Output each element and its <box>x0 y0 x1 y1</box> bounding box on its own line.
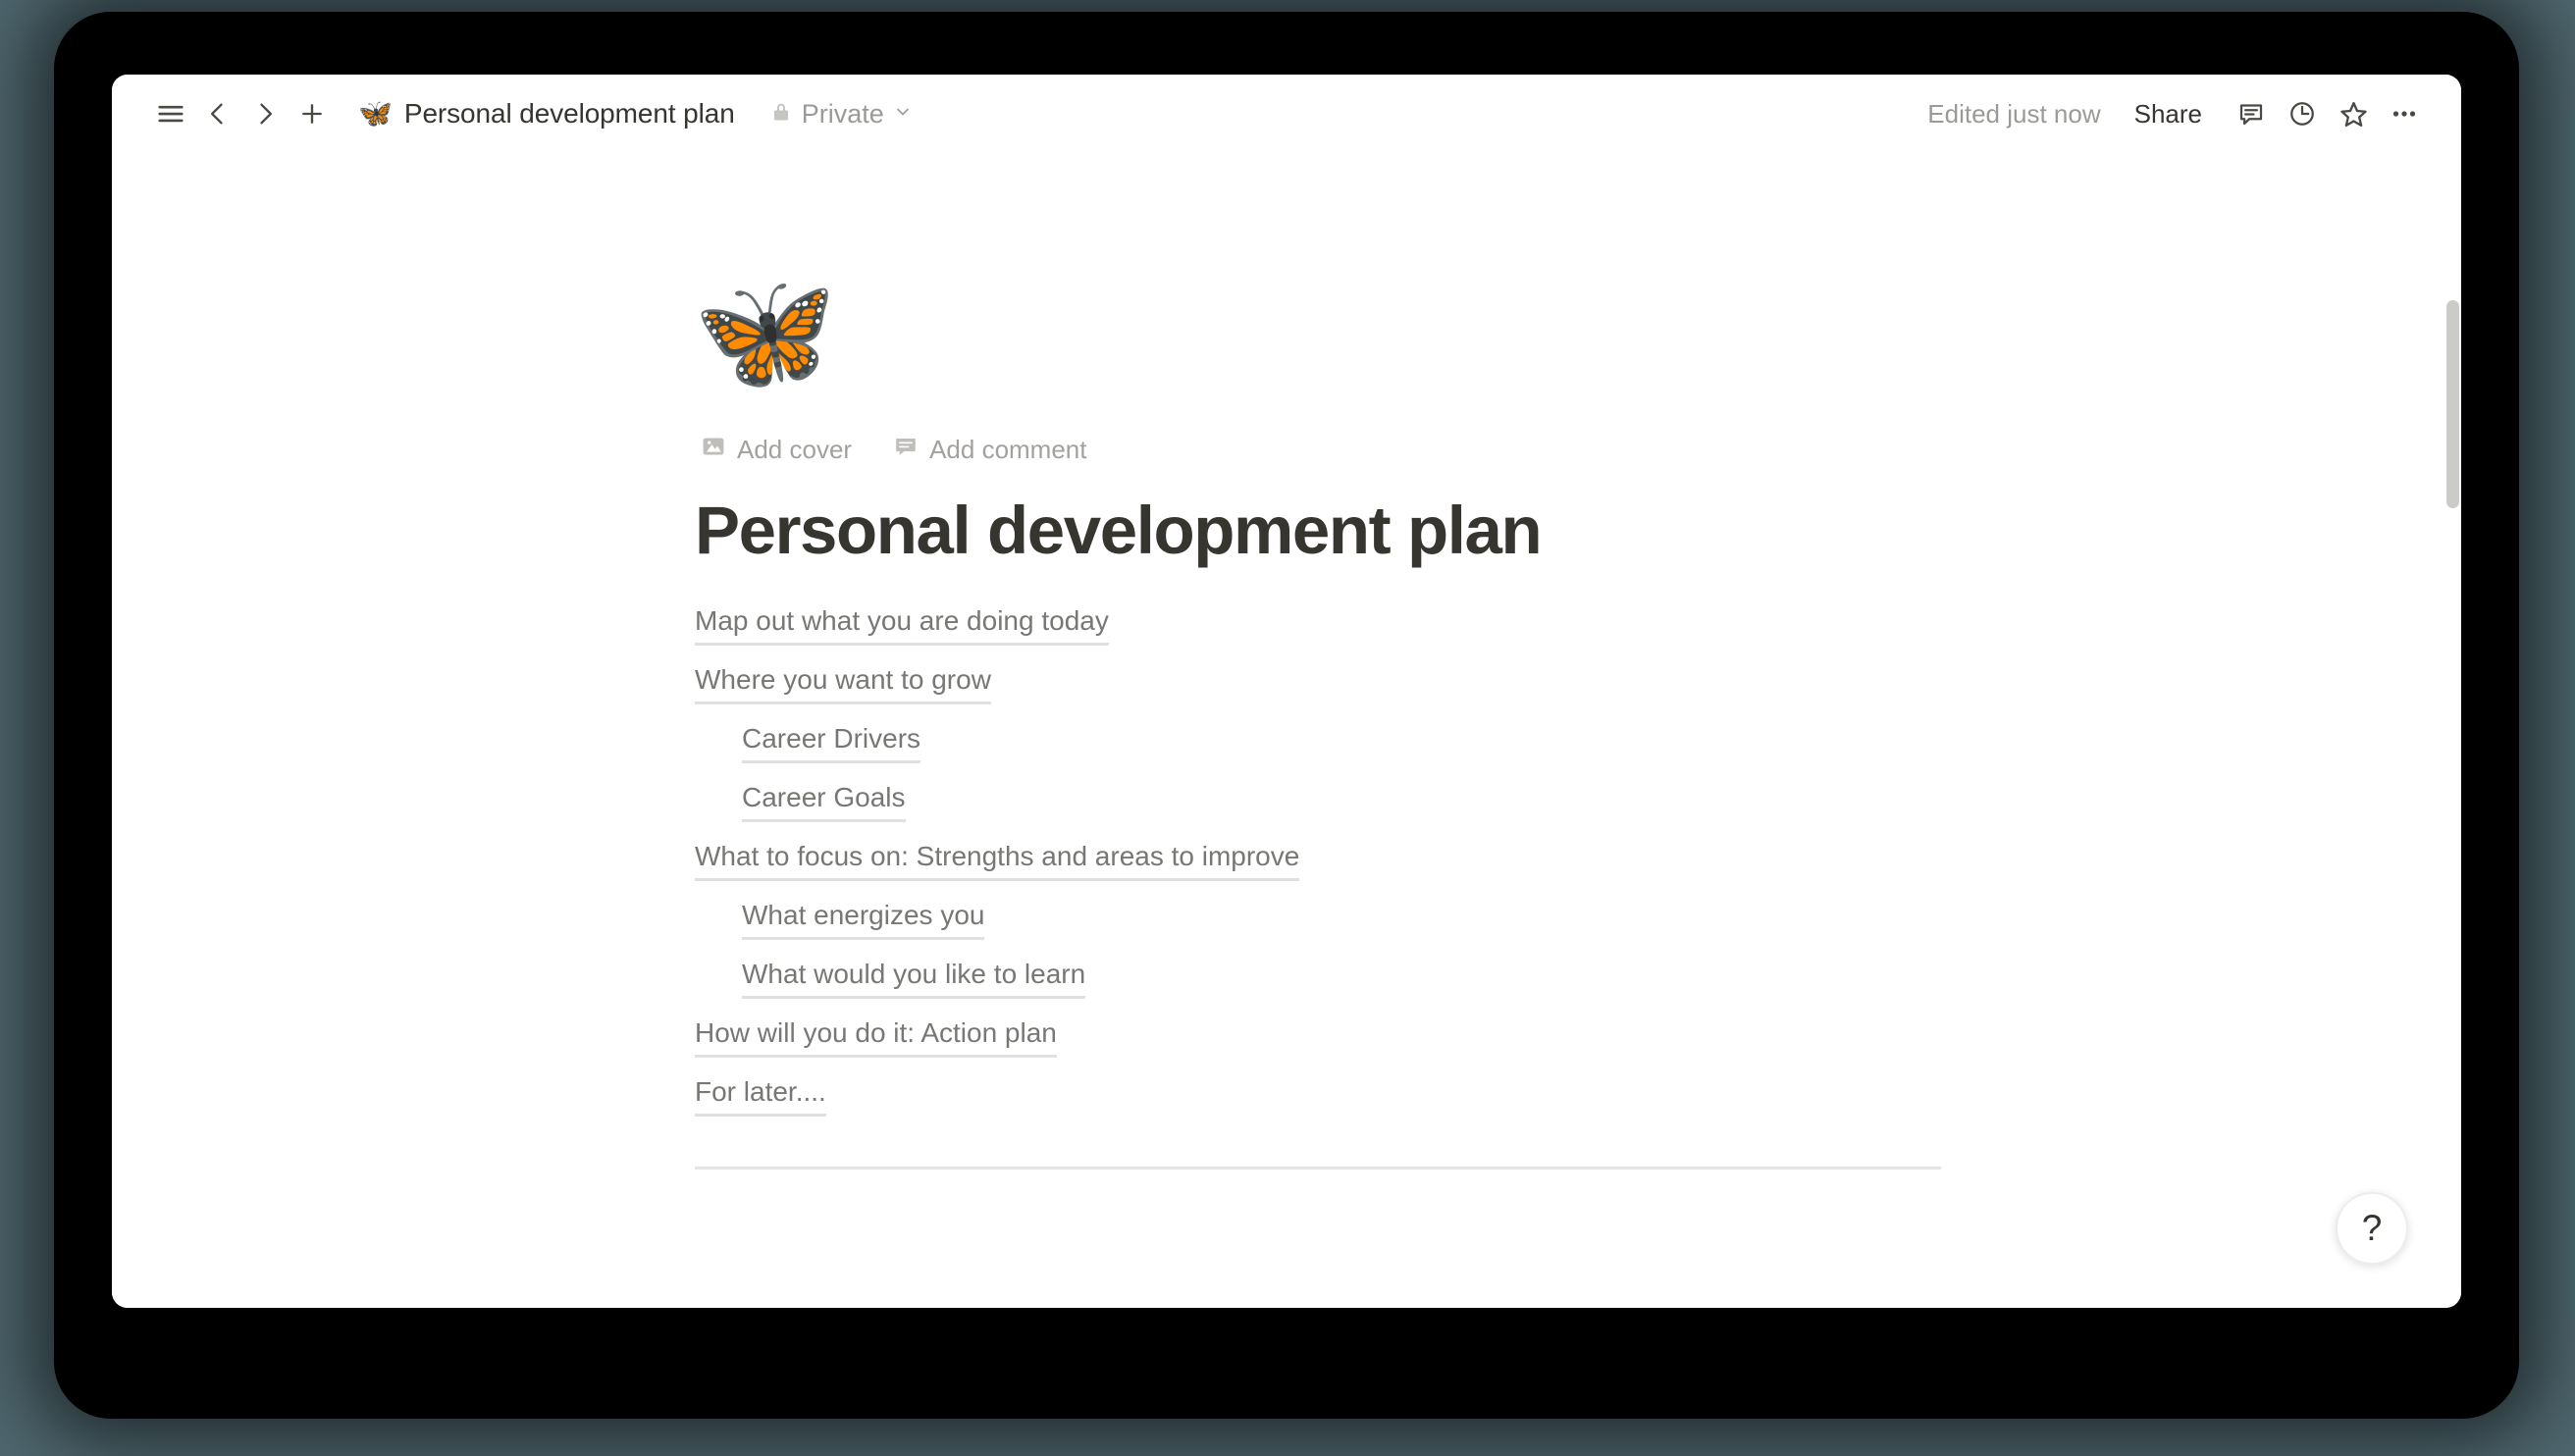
comment-bubble-icon[interactable] <box>2228 90 2275 137</box>
content-divider <box>695 1167 1941 1170</box>
toc-link[interactable]: Map out what you are doing today <box>695 604 1109 646</box>
toc-link[interactable]: Where you want to grow <box>695 663 991 704</box>
add-comment-button[interactable]: Add comment <box>887 430 1092 470</box>
clock-history-icon[interactable] <box>2279 90 2326 137</box>
toc-link[interactable]: Career Goals <box>742 781 906 822</box>
scrollbar[interactable] <box>2444 232 2461 1308</box>
privacy-label: Private <box>802 99 884 130</box>
topbar-left-group: 🦋 Personal development plan Private <box>147 90 922 137</box>
help-button[interactable]: ? <box>2336 1192 2408 1265</box>
toc-item[interactable]: What to focus on: Strengths and areas to… <box>695 831 2088 890</box>
toc-link[interactable]: Career Drivers <box>742 722 920 763</box>
toc-link[interactable]: What to focus on: Strengths and areas to… <box>695 840 1299 881</box>
toc-item[interactable]: What energizes you <box>695 890 2088 949</box>
chevron-left-icon[interactable] <box>194 90 241 137</box>
topbar-right-group: Edited just now Share <box>1918 90 2428 137</box>
star-outline-icon[interactable] <box>2330 90 2377 137</box>
page-butterfly-icon[interactable]: 🦋 <box>693 275 2088 394</box>
toc-link[interactable]: What would you like to learn <box>742 958 1085 999</box>
toc-item[interactable]: Career Drivers <box>695 713 2088 772</box>
top-bar: 🦋 Personal development plan Private <box>112 75 2461 153</box>
edited-status[interactable]: Edited just now <box>1918 92 2110 136</box>
hamburger-menu-icon[interactable] <box>147 90 194 137</box>
lock-icon <box>769 100 793 129</box>
toc-item[interactable]: How will you do it: Action plan <box>695 1008 2088 1066</box>
toc-item[interactable]: Career Goals <box>695 772 2088 831</box>
scrollbar-thumb[interactable] <box>2446 300 2459 508</box>
chevron-down-icon <box>893 102 913 127</box>
toc-item[interactable]: What would you like to learn <box>695 949 2088 1008</box>
toc-link[interactable]: How will you do it: Action plan <box>695 1016 1057 1058</box>
add-cover-label: Add cover <box>737 435 852 465</box>
toc-link[interactable]: What energizes you <box>742 899 984 940</box>
share-button[interactable]: Share <box>2123 91 2214 137</box>
breadcrumb[interactable]: 🦋 Personal development plan <box>349 93 744 134</box>
add-comment-label: Add comment <box>929 435 1086 465</box>
comment-bubble-icon <box>893 434 919 466</box>
more-horizontal-icon[interactable] <box>2381 90 2428 137</box>
app-window: 🦋 Personal development plan Private <box>112 75 2461 1308</box>
toc-item[interactable]: Map out what you are doing today <box>695 596 2088 654</box>
toc-link[interactable]: For later.... <box>695 1075 826 1117</box>
page-actions-row: Add cover Add comment <box>695 430 2088 469</box>
image-icon <box>701 434 726 466</box>
toc-item[interactable]: Where you want to grow <box>695 654 2088 713</box>
page-title[interactable]: Personal development plan <box>695 493 2088 568</box>
breadcrumb-title: Personal development plan <box>404 98 735 130</box>
page-scroll-area[interactable]: 🦋 Add cover <box>112 153 2461 1308</box>
breadcrumb-butterfly-icon: 🦋 <box>358 100 393 128</box>
privacy-selector[interactable]: Private <box>760 93 922 135</box>
toc-item[interactable]: For later.... <box>695 1066 2088 1125</box>
chevron-right-icon[interactable] <box>241 90 289 137</box>
page-content: 🦋 Add cover <box>695 275 2088 1170</box>
table-of-contents: Map out what you are doing today Where y… <box>695 596 2088 1125</box>
add-cover-button[interactable]: Add cover <box>695 430 858 470</box>
plus-icon[interactable] <box>289 90 336 137</box>
